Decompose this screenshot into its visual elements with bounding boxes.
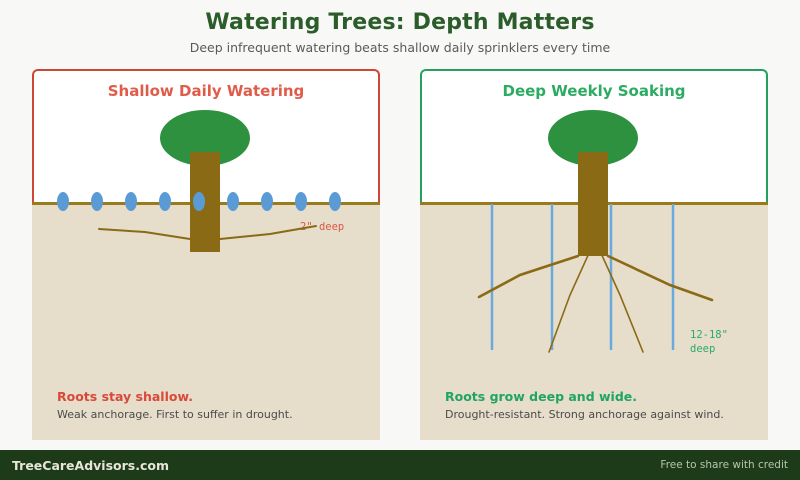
infographic-canvas: Watering Trees: Depth Matters Deep infre… (0, 0, 800, 480)
caption-deep-heading: Roots grow deep and wide. (445, 389, 745, 404)
footer-brand: TreeCareAdvisors.com (12, 458, 169, 473)
footer-note: Free to share with credit (660, 459, 788, 471)
water-droplet (295, 192, 307, 211)
water-droplet (125, 192, 137, 211)
caption-shallow-heading: Roots stay shallow. (57, 389, 357, 404)
caption-shallow: Roots stay shallow. Weak anchorage. Firs… (57, 389, 357, 422)
depth-label-shallow: 2" deep (300, 220, 344, 234)
tree-trunk-deep (578, 152, 608, 256)
panel-shallow-heading: Shallow Daily Watering (34, 82, 378, 100)
water-droplet (91, 192, 103, 211)
panel-deep-heading: Deep Weekly Soaking (422, 82, 766, 100)
water-droplet (193, 192, 205, 211)
water-droplet (261, 192, 273, 211)
water-droplet (57, 192, 69, 211)
footer-bar: TreeCareAdvisors.com Free to share with … (0, 450, 800, 480)
page-title: Watering Trees: Depth Matters (0, 10, 800, 35)
water-droplet (159, 192, 171, 211)
caption-deep-body: Drought-resistant. Strong anchorage agai… (445, 408, 745, 422)
water-droplet (329, 192, 341, 211)
caption-deep: Roots grow deep and wide. Drought-resist… (445, 389, 745, 422)
caption-shallow-body: Weak anchorage. First to suffer in droug… (57, 408, 357, 422)
depth-label-deep: 12-18" deep (690, 328, 728, 356)
page-subtitle: Deep infrequent watering beats shallow d… (0, 40, 800, 55)
water-droplet (227, 192, 239, 211)
